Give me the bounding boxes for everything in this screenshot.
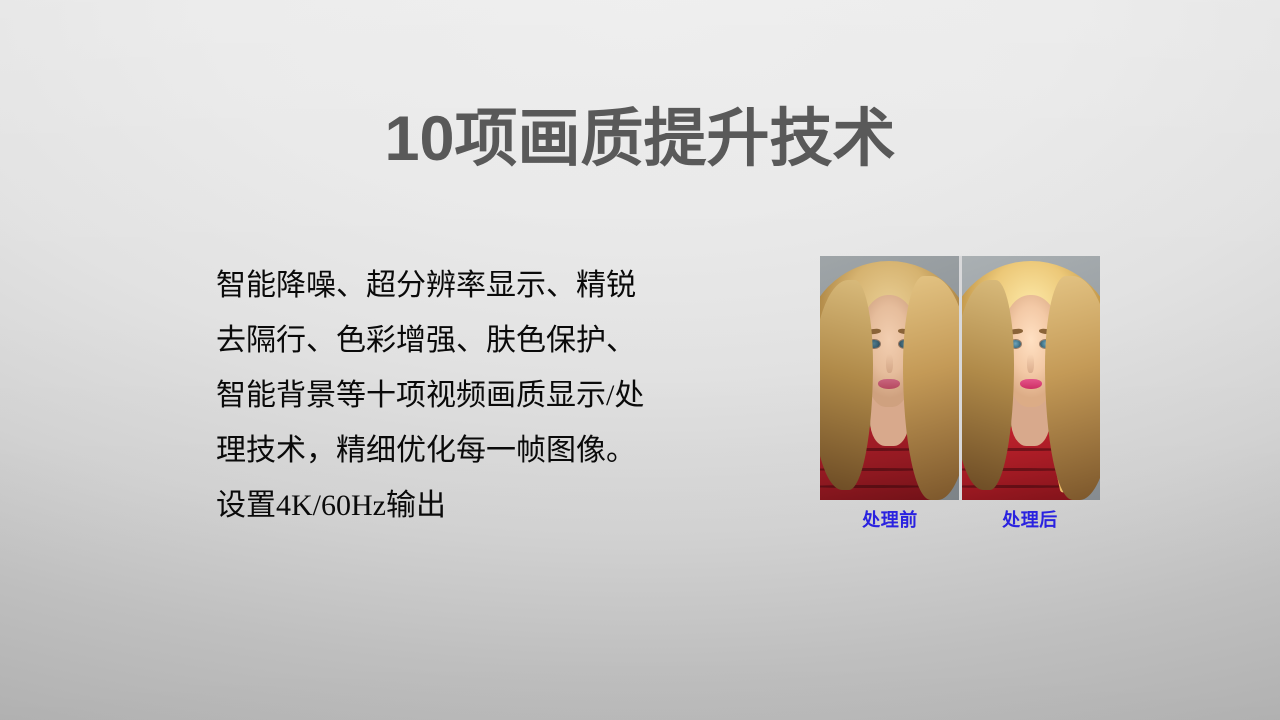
nose [1027,354,1034,374]
body-paragraph: 智能降噪、超分辨率显示、精锐 去隔行、色彩增强、肤色保护、 智能背景等十项视频画… [216,258,706,533]
caption-row: 处理前 处理后 [820,506,1100,532]
portrait-photo-after [962,256,1101,500]
photo-pair [820,256,1100,500]
hair-strand-right [903,276,958,500]
nose [886,354,893,374]
portrait-photo-before [820,256,959,500]
before-after-comparison-figure: 处理前 处理后 [820,256,1100,532]
body-line-4: 理技术，精细优化每一帧图像。 [216,423,706,478]
page-title: 10项画质提升技术 [0,106,1280,172]
caption-after: 处理后 [960,506,1100,532]
slide-canvas: 10项画质提升技术 智能降噪、超分辨率显示、精锐 去隔行、色彩增强、肤色保护、 … [0,0,1280,720]
body-line-3: 智能背景等十项视频画质显示/处 [216,368,706,423]
caption-before: 处理前 [820,506,960,532]
body-line-5: 设置4K/60Hz输出 [216,478,706,533]
body-line-2: 去隔行、色彩增强、肤色保护、 [216,313,706,368]
body-line-1: 智能降噪、超分辨率显示、精锐 [216,258,706,313]
